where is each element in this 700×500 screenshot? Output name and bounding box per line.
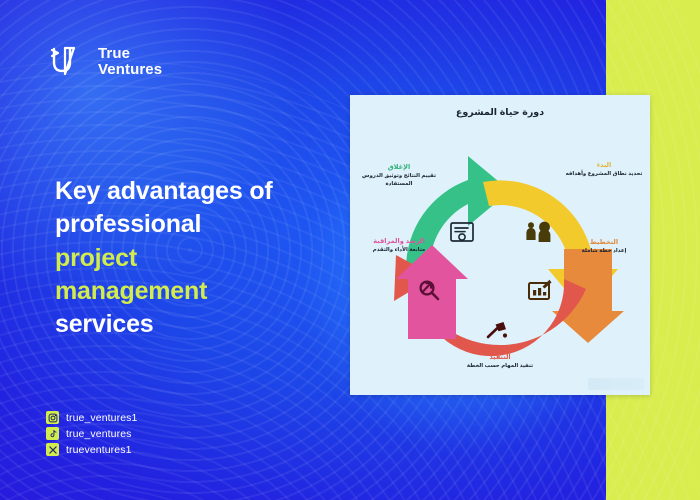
social-handles-list: true_ventures1 true_ventures trueventure… [46, 411, 137, 456]
stage-description: إعداد خطة شاملة [562, 248, 646, 256]
brand-name-line1: True [98, 45, 130, 62]
poster-canvas: True Ventures Key advantages of professi… [0, 0, 700, 500]
chart-presentation-icon [529, 280, 552, 299]
watermark [588, 378, 644, 390]
instagram-icon [46, 411, 59, 424]
social-handle-text: true_ventures1 [66, 412, 137, 424]
wheel-segment-planning[interactable] [552, 249, 624, 343]
tools-hammer-icon [488, 322, 507, 338]
headline-line-4: management [55, 277, 207, 305]
stage-title: التنفيذ [440, 353, 560, 361]
headline-line-1: Key advantages of [55, 177, 273, 205]
page-title: Key advantages of professional project m… [55, 175, 355, 341]
infographic-card: دورة حياة المشروع [350, 95, 650, 395]
headline-line-3: project [55, 244, 137, 272]
stage-title: الرصد والمراقبة [354, 237, 444, 245]
stage-label-execution[interactable]: التنفيذ تنفيذ المهام حسب الخطة [440, 353, 560, 371]
social-row-x[interactable]: trueventures1 [46, 443, 137, 456]
headline-line-5: services [55, 310, 154, 338]
infographic-title: دورة حياة المشروع [350, 107, 650, 118]
stage-description: تنفيذ المهام حسب الخطة [440, 363, 560, 371]
stage-label-closing[interactable]: الإغلاق تقييم النتائج وتوثيق الدروس المس… [356, 163, 442, 189]
headline-line-2: professional [55, 210, 201, 238]
brand-name: True Ventures [98, 46, 162, 78]
brand-name-line2: Ventures [98, 61, 162, 78]
stage-label-start[interactable]: البدء تحديد نطاق المشروع وأهدافه [562, 161, 646, 179]
stage-label-planning[interactable]: التخطيط إعداد خطة شاملة [562, 238, 646, 256]
stage-description: تقييم النتائج وتوثيق الدروس المستفادة [356, 173, 442, 189]
stage-description: متابعة الأداء والتقدم [354, 247, 444, 255]
tiktok-icon [46, 427, 59, 440]
stage-title: التخطيط [562, 238, 646, 246]
true-ventures-monogram-icon [46, 40, 90, 84]
certificate-document-icon [451, 223, 473, 241]
stage-title: البدء [562, 161, 646, 169]
stage-title: الإغلاق [356, 163, 442, 171]
social-row-instagram[interactable]: true_ventures1 [46, 411, 137, 424]
brand-logo[interactable]: True Ventures [46, 40, 162, 84]
stage-description: تحديد نطاق المشروع وأهدافه [562, 171, 646, 179]
social-row-tiktok[interactable]: true_ventures [46, 427, 137, 440]
social-handle-text: trueventures1 [66, 444, 132, 456]
team-people-icon [526, 222, 550, 242]
x-twitter-icon [46, 443, 59, 456]
social-handle-text: true_ventures [66, 428, 132, 440]
stage-label-monitoring[interactable]: الرصد والمراقبة متابعة الأداء والتقدم [354, 237, 444, 255]
